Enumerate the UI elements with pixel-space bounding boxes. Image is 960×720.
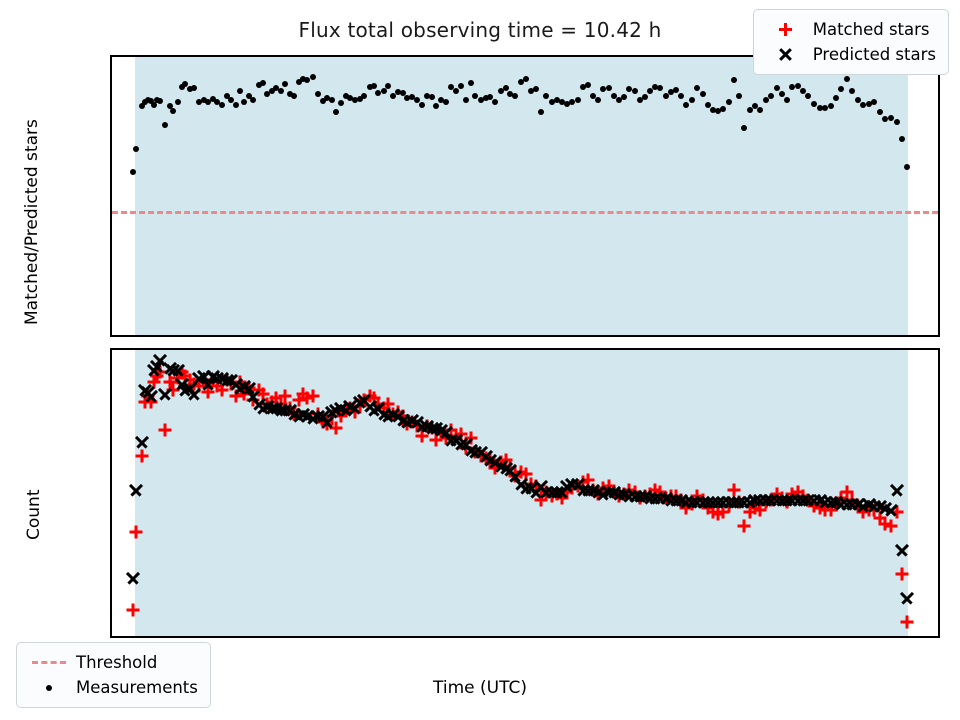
x-tick-mark <box>436 335 437 337</box>
data-point <box>632 88 638 94</box>
data-point <box>720 106 726 112</box>
data-point <box>310 74 316 80</box>
data-point <box>492 99 498 105</box>
data-point <box>170 108 176 114</box>
data-point <box>900 592 913 605</box>
y-tick-mark <box>110 426 112 427</box>
data-point <box>844 76 850 82</box>
y-tick-mark <box>110 576 112 577</box>
figure-canvas: Flux total observing time = 10.42 h Matc… <box>0 0 960 720</box>
x-tick-mark <box>880 335 881 337</box>
data-point <box>361 93 367 99</box>
y-tick-mark <box>110 476 112 477</box>
data-point <box>855 97 861 103</box>
dot-marker-icon <box>26 678 72 698</box>
x-tick-mark <box>806 636 807 638</box>
data-point <box>237 88 243 94</box>
x-tick-mark <box>362 335 363 337</box>
x-tick-mark <box>214 636 215 638</box>
data-point <box>282 81 288 87</box>
data-point <box>523 76 529 82</box>
x-tick-label: 14:00 <box>338 636 386 638</box>
data-point <box>595 97 601 103</box>
data-point <box>126 572 139 585</box>
data-point <box>260 80 266 86</box>
data-point <box>219 102 225 108</box>
data-point <box>543 93 549 99</box>
data-point <box>689 97 695 103</box>
x-tick-label: 16:00 <box>486 636 534 638</box>
data-point <box>736 93 742 99</box>
x-tick-mark <box>436 636 437 638</box>
y-tick-mark <box>110 376 112 377</box>
data-point <box>896 568 909 581</box>
legend-label: Threshold <box>72 651 157 675</box>
data-point <box>757 107 763 113</box>
data-point <box>130 526 143 539</box>
legend-item: Threshold <box>26 650 198 675</box>
x-tick-label: 15:00 <box>412 636 460 638</box>
y-tick-mark <box>110 142 112 143</box>
legend-ratio-panel: Threshold Measurements <box>16 642 211 708</box>
y-tick-mark <box>110 626 112 627</box>
data-point <box>278 88 284 94</box>
data-point <box>694 85 700 91</box>
data-point <box>453 88 459 94</box>
x-tick-mark <box>288 335 289 337</box>
y-tick-mark <box>110 526 112 527</box>
data-point <box>533 86 539 92</box>
data-point <box>414 97 420 103</box>
threshold-line <box>112 211 938 214</box>
data-point <box>333 109 339 115</box>
data-point <box>241 99 247 105</box>
data-point <box>828 103 834 109</box>
data-point <box>250 97 256 103</box>
data-point <box>871 99 877 105</box>
data-point <box>779 91 785 97</box>
data-point <box>338 100 344 106</box>
legend-item: Measurements <box>26 675 198 700</box>
data-point <box>683 102 689 108</box>
data-point <box>795 83 801 89</box>
x-tick-mark <box>214 335 215 337</box>
data-point <box>419 102 425 108</box>
data-point <box>306 390 319 403</box>
data-point <box>433 103 439 109</box>
data-point <box>763 97 769 103</box>
data-point <box>188 388 201 401</box>
data-point <box>885 504 898 517</box>
data-point <box>130 169 136 175</box>
ratio-panel-axes: 0.00.20.40.60.81.0 <box>110 55 940 337</box>
data-point <box>894 119 900 125</box>
x-tick-label: 18:00 <box>634 636 682 638</box>
data-point <box>463 97 469 103</box>
data-point <box>158 388 171 401</box>
cross-marker-icon <box>763 45 809 65</box>
data-point <box>647 88 653 94</box>
data-point <box>731 77 737 83</box>
x-tick-mark <box>658 335 659 337</box>
x-tick-mark <box>732 636 733 638</box>
x-tick-mark <box>362 636 363 638</box>
plus-marker-icon <box>763 20 809 40</box>
data-point <box>890 484 903 497</box>
data-point <box>191 85 197 91</box>
data-point <box>849 88 855 94</box>
x-tick-label: 17:00 <box>560 636 608 638</box>
data-point <box>458 83 464 89</box>
data-point <box>900 616 913 629</box>
data-point <box>899 136 905 142</box>
x-tick-mark <box>584 636 585 638</box>
y-tick-mark <box>110 279 112 280</box>
data-point <box>768 93 774 99</box>
x-tick-label: 11:00 <box>116 636 164 638</box>
data-point <box>291 93 297 99</box>
data-point <box>135 436 148 449</box>
data-point <box>126 604 139 617</box>
data-point <box>621 94 627 100</box>
legend-label: Measurements <box>72 676 198 700</box>
data-point <box>673 87 679 93</box>
data-point <box>538 109 544 115</box>
legend-label: Matched stars <box>809 18 930 42</box>
y-tick-mark <box>110 187 112 188</box>
data-point <box>512 93 518 99</box>
data-point <box>171 364 184 377</box>
x-tick-label: 19:00 <box>708 636 756 638</box>
data-point <box>700 91 706 97</box>
data-point <box>896 544 909 557</box>
dashed-line-icon <box>26 653 72 673</box>
y-tick-mark <box>110 325 112 326</box>
data-point <box>133 146 139 152</box>
data-point <box>738 520 751 533</box>
data-point <box>642 94 648 100</box>
legend-label: Predicted stars <box>809 43 936 67</box>
x-tick-mark <box>806 335 807 337</box>
x-tick-label: 13:00 <box>264 636 312 638</box>
x-tick-mark <box>288 636 289 638</box>
data-point <box>606 85 612 91</box>
data-point <box>329 97 335 103</box>
data-point <box>741 125 747 131</box>
data-point <box>162 122 168 128</box>
data-point <box>487 94 493 100</box>
x-tick-mark <box>732 335 733 337</box>
data-point <box>657 85 663 91</box>
data-point <box>145 390 158 403</box>
data-point <box>381 88 387 94</box>
y-tick-mark <box>110 96 112 97</box>
x-tick-mark <box>140 636 141 638</box>
data-point <box>233 102 239 108</box>
data-point <box>385 83 391 89</box>
data-point <box>774 85 780 91</box>
data-point <box>157 98 163 104</box>
data-point <box>904 164 910 170</box>
data-point <box>585 82 591 88</box>
data-point <box>315 91 321 97</box>
data-point <box>833 95 839 101</box>
data-point <box>838 86 844 92</box>
data-point <box>726 99 732 105</box>
legend-count-panel: Matched stars Predicted stars <box>753 9 949 75</box>
count-panel-axes: 25507510012515011:0012:0013:0014:0015:00… <box>110 348 940 638</box>
data-point <box>805 93 811 99</box>
legend-item: Predicted stars <box>763 42 936 67</box>
data-point <box>175 99 181 105</box>
data-point <box>429 94 435 100</box>
x-tick-mark <box>880 636 881 638</box>
y-axis-label-bottom: Count <box>24 490 44 541</box>
x-tick-mark <box>658 636 659 638</box>
y-tick-mark <box>110 233 112 234</box>
x-tick-mark <box>510 335 511 337</box>
data-point <box>784 97 790 103</box>
x-tick-mark <box>510 636 511 638</box>
x-tick-label: 21:00 <box>856 636 904 638</box>
data-point <box>151 102 157 108</box>
data-point <box>575 97 581 103</box>
x-tick-label: 20:00 <box>782 636 830 638</box>
data-point <box>885 520 898 533</box>
x-tick-mark <box>140 335 141 337</box>
data-point <box>443 99 449 105</box>
data-point <box>130 484 143 497</box>
data-point <box>135 450 148 463</box>
data-point <box>158 424 171 437</box>
legend-item: Matched stars <box>763 17 936 42</box>
x-tick-label: 12:00 <box>190 636 238 638</box>
data-point <box>877 109 883 115</box>
data-point <box>468 80 474 86</box>
data-point <box>371 83 377 89</box>
y-axis-label-top: Matched/Predicted stars <box>22 119 42 325</box>
x-tick-mark <box>584 335 585 337</box>
data-point <box>678 93 684 99</box>
